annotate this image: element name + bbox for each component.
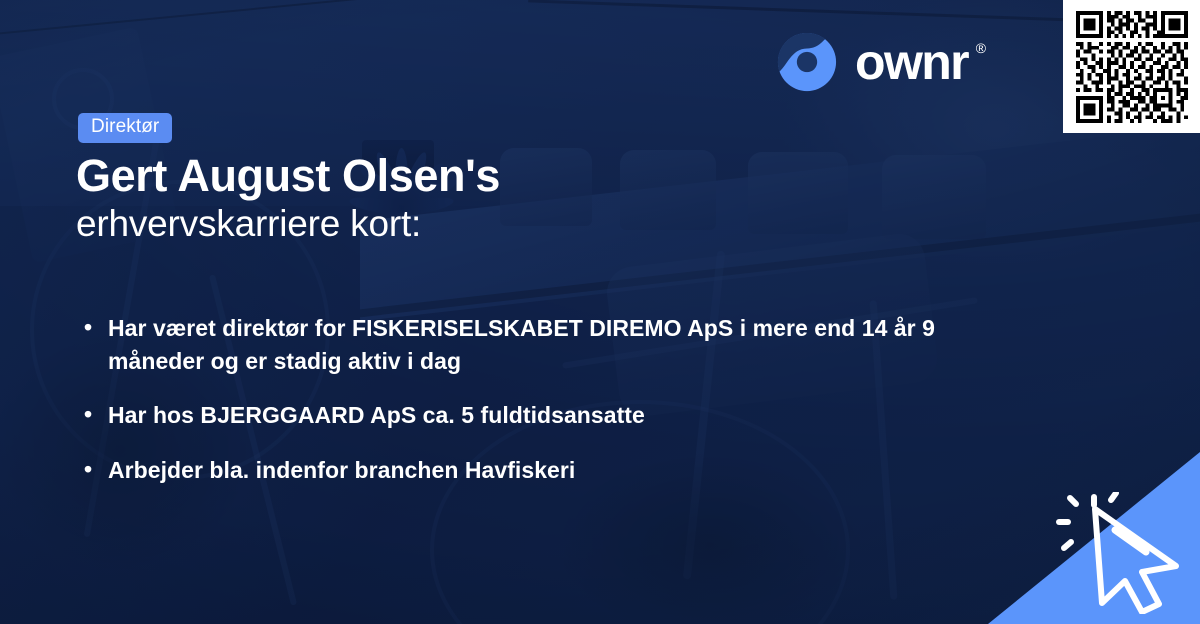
role-badge: Direktør: [78, 113, 172, 143]
ownr-swoosh-circle-icon: [776, 31, 838, 93]
list-item: Har været direktør for FISKERISELSKABET …: [82, 312, 942, 377]
ownr-wordmark-text: ownr: [855, 34, 968, 90]
click-cursor-icon: [1054, 492, 1186, 614]
career-highlights-list: Har været direktør for FISKERISELSKABET …: [82, 312, 942, 509]
list-item: Har hos BJERGGAARD ApS ca. 5 fuldtidsans…: [82, 399, 942, 432]
registered-trademark-symbol: ®: [976, 41, 986, 55]
ownr-logo[interactable]: ownr®: [776, 31, 986, 93]
ownr-wordmark: ownr®: [855, 37, 986, 87]
page-subtitle: erhvervskarriere kort:: [76, 204, 421, 245]
career-card: Direktør Gert August Olsen's erhvervskar…: [0, 0, 1200, 624]
page-title: Gert August Olsen's: [76, 152, 500, 201]
list-item: Arbejder bla. indenfor branchen Havfiske…: [82, 454, 942, 487]
qr-code[interactable]: [1063, 0, 1200, 133]
